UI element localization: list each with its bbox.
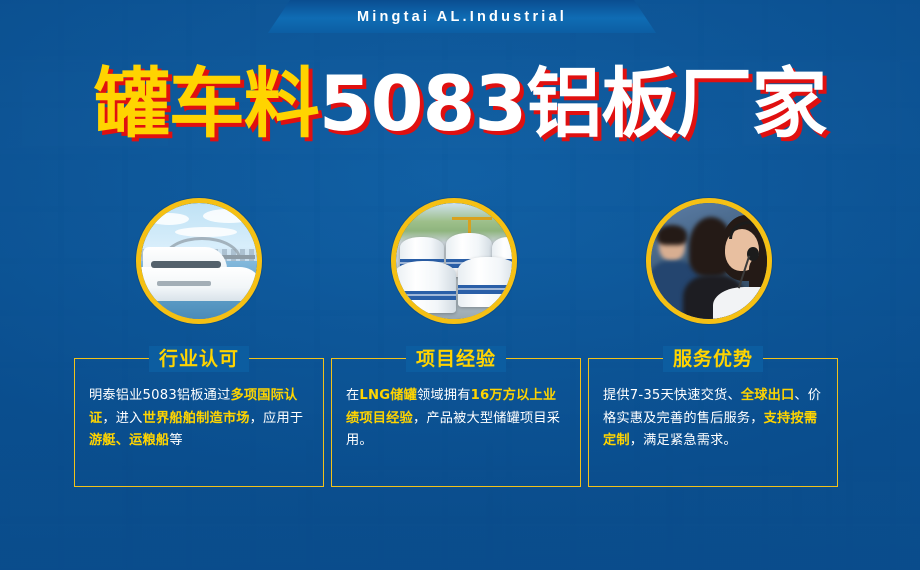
- feature-card-project-experience: 项目经验 在LNG储罐领域拥有16万方以上业绩项目经验，产品被大型储罐项目采用。: [331, 358, 581, 487]
- promo-banner: Mingtai AL.Industrial 罐车料5083铝板厂家: [0, 0, 920, 570]
- lng-tank-photo: [391, 198, 517, 324]
- body-segment-highlight: 游艇、运粮船: [89, 433, 169, 448]
- body-segment: ，进入: [102, 411, 142, 426]
- page-title-highlight: 罐车料: [94, 59, 319, 148]
- feature-card-body: 明泰铝业5083铝板通过多项国际认证，进入世界船舶制造市场，应用于游艇、运粮船等: [75, 359, 323, 461]
- body-segment: ，满足紧急需求。: [630, 433, 737, 448]
- feature-card-body: 提供7-35天快速交货、全球出口、价格实惠及完善的售后服务，支持按需定制，满足紧…: [589, 359, 837, 461]
- feature-card-service-advantage: 服务优势 提供7-35天快速交货、全球出口、价格实惠及完善的售后服务，支持按需定…: [588, 358, 838, 487]
- brand-tab-label: Mingtai AL.Industrial: [357, 9, 567, 25]
- body-segment: 在: [346, 388, 359, 403]
- body-segment: 明泰铝业5083铝板通过: [89, 388, 230, 403]
- body-segment-highlight: 全球出口: [741, 388, 795, 403]
- page-title-main: 5083铝板厂家: [319, 59, 827, 148]
- brand-tab: Mingtai AL.Industrial: [268, 0, 656, 33]
- body-segment: 等: [169, 433, 182, 448]
- body-segment: ，应用于: [250, 411, 304, 426]
- photo-row: [0, 198, 920, 328]
- feature-card-industry-recognition: 行业认可 明泰铝业5083铝板通过多项国际认证，进入世界船舶制造市场，应用于游艇…: [74, 358, 324, 487]
- body-segment-highlight: 世界船舶制造市场: [143, 411, 250, 426]
- body-segment: 领域拥有: [417, 388, 471, 403]
- feature-card-body: 在LNG储罐领域拥有16万方以上业绩项目经验，产品被大型储罐项目采用。: [332, 359, 580, 461]
- page-title: 罐车料5083铝板厂家: [0, 66, 920, 142]
- body-segment: 提供7-35天快速交货、: [603, 388, 741, 403]
- customer-service-photo: [646, 198, 772, 324]
- body-segment-highlight: LNG储罐: [359, 388, 417, 403]
- feature-card-row: 行业认可 明泰铝业5083铝板通过多项国际认证，进入世界船舶制造市场，应用于游艇…: [0, 358, 920, 490]
- yacht-photo: [136, 198, 262, 324]
